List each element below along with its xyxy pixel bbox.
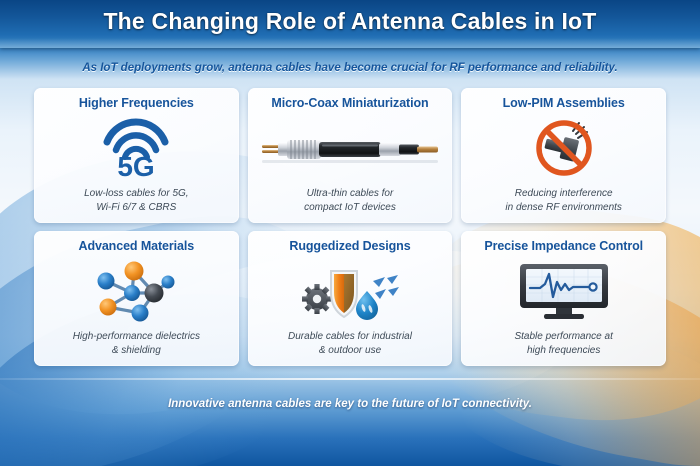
card-low-pim-assemblies[interactable]: Low-PIM Assemblies: [461, 88, 666, 223]
page-title: The Changing Role of Antenna Cables in I…: [0, 8, 700, 35]
cards-grid: Higher Frequencies 5G Low-loss cables fo…: [34, 88, 666, 366]
card-title: Low-PIM Assemblies: [503, 97, 625, 111]
card-description: Ultra-thin cables for compact IoT device…: [304, 187, 396, 216]
5g-icon-label: 5G: [118, 151, 155, 182]
card-micro-coax-miniaturization[interactable]: Micro-Coax Miniaturization: [248, 88, 453, 223]
card-description: Stable performance at high frequencies: [514, 330, 612, 359]
card-higher-frequencies[interactable]: Higher Frequencies 5G Low-loss cables fo…: [34, 88, 239, 223]
card-title: Ruggedized Designs: [289, 240, 410, 254]
header-sheen: [0, 38, 700, 48]
card-title: Higher Frequencies: [79, 97, 194, 111]
shield-gear-waterdrop-icon: [255, 254, 446, 330]
no-interference-icon: [468, 111, 659, 187]
molecule-icon: [41, 254, 232, 330]
card-description: High-performance dielectrics & shielding: [73, 330, 200, 359]
card-description: Low-loss cables for 5G, Wi-Fi 6/7 & CBRS: [84, 187, 189, 216]
footer-text: Innovative antenna cables are key to the…: [0, 398, 700, 410]
monitor-waveform-icon: [468, 254, 659, 330]
footer-divider: [0, 378, 700, 380]
infographic-root: The Changing Role of Antenna Cables in I…: [0, 0, 700, 466]
card-ruggedized-designs[interactable]: Ruggedized Designs: [248, 231, 453, 366]
footer: Innovative antenna cables are key to the…: [0, 378, 700, 410]
card-description: Durable cables for industrial & outdoor …: [288, 330, 412, 359]
subtitle-text: As IoT deployments grow, antenna cables …: [0, 62, 700, 74]
header-banner: The Changing Role of Antenna Cables in I…: [0, 0, 700, 48]
card-title: Micro-Coax Miniaturization: [271, 97, 428, 111]
card-title: Precise Impedance Control: [484, 240, 643, 254]
card-description: Reducing interference in dense RF enviro…: [505, 187, 622, 216]
card-title: Advanced Materials: [79, 240, 195, 254]
card-advanced-materials[interactable]: Advanced Materials: [34, 231, 239, 366]
5g-wifi-icon: 5G: [41, 111, 232, 187]
card-precise-impedance-control[interactable]: Precise Impedance Control: [461, 231, 666, 366]
coax-cable-icon: [255, 111, 446, 187]
